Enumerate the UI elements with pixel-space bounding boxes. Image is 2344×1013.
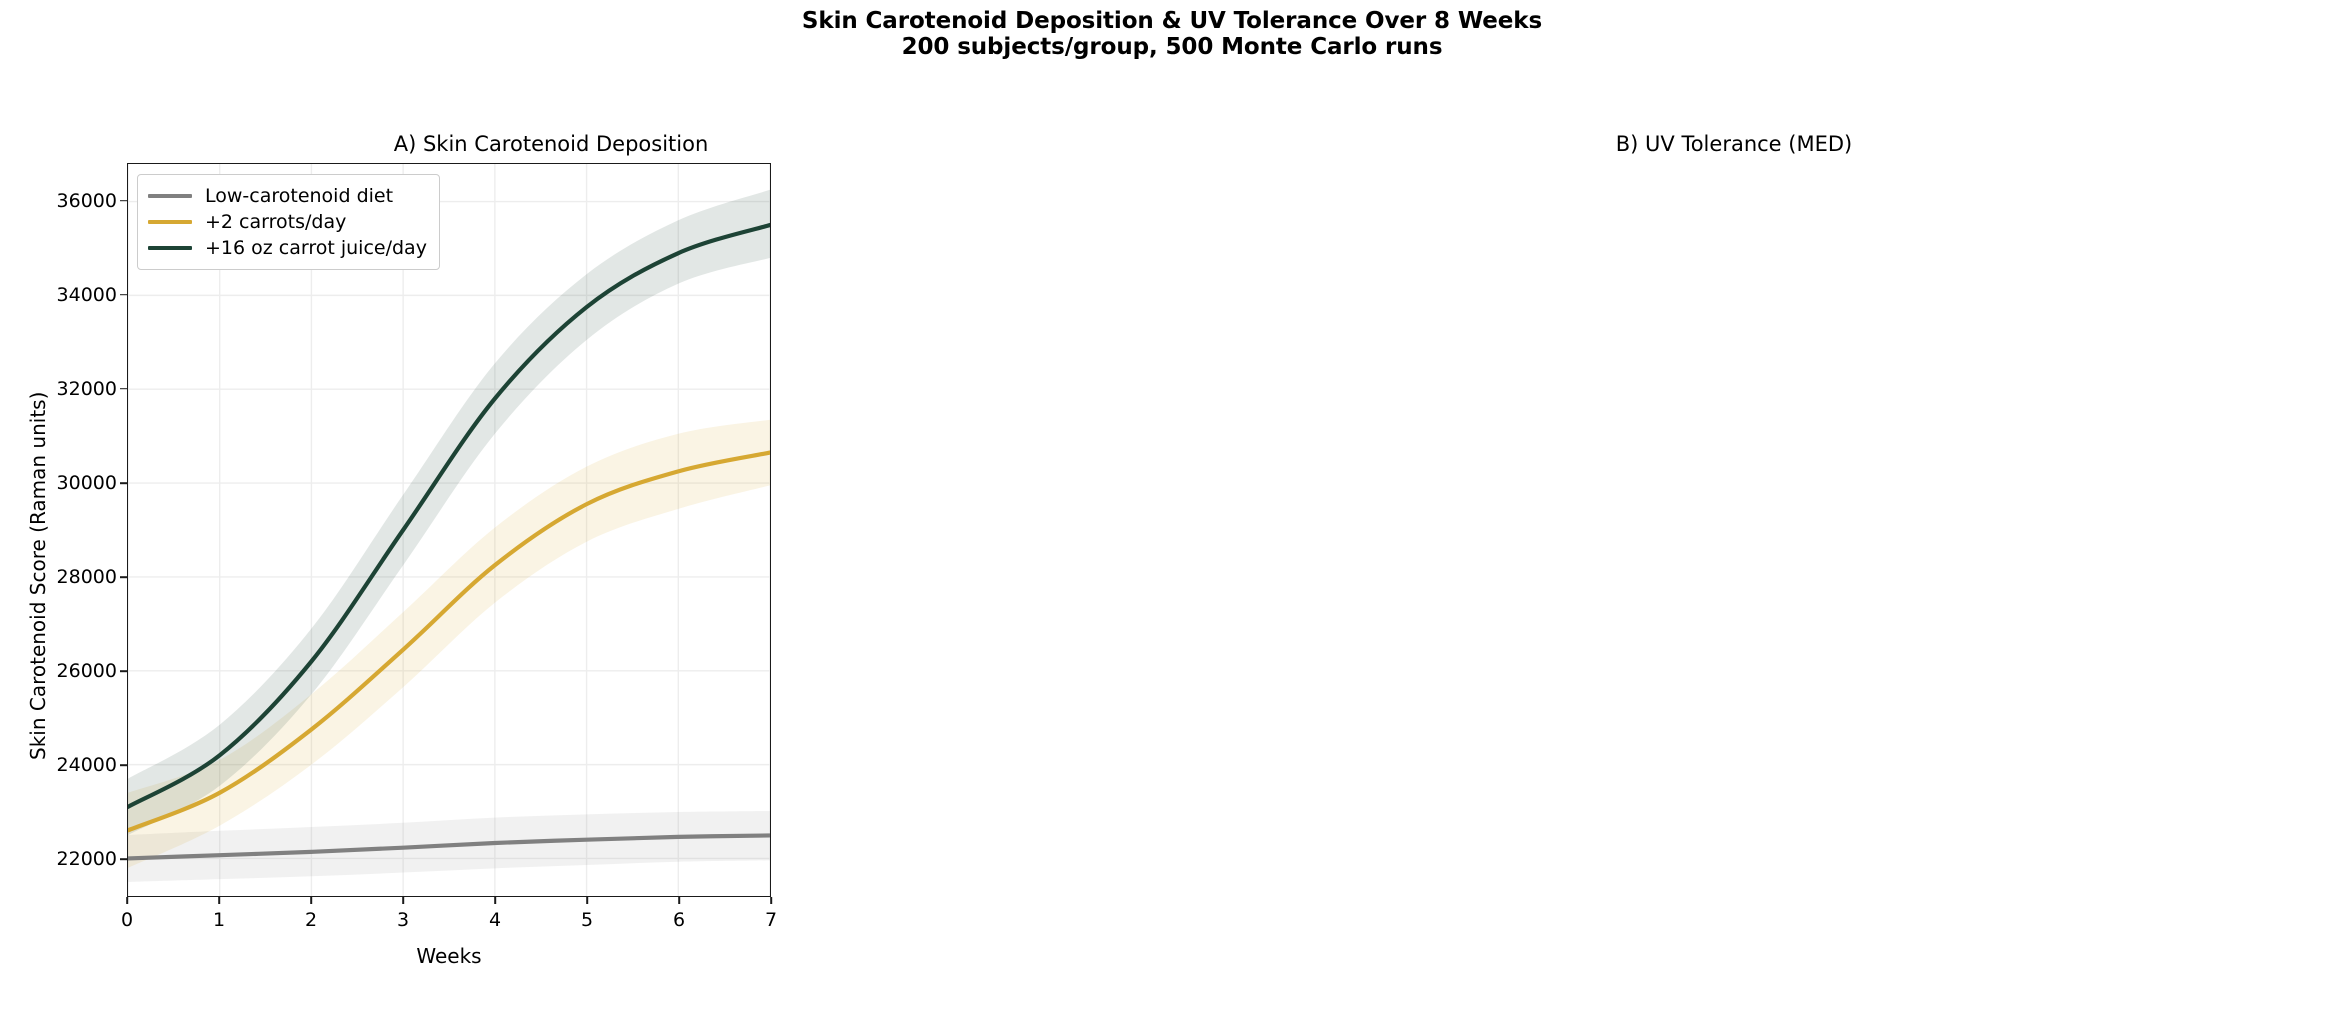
legend-item-a-1[interactable]: +2 carrots/day: [148, 209, 427, 235]
x-tick-label: 5: [581, 909, 593, 931]
legend-item-a-2[interactable]: +16 oz carrot juice/day: [148, 235, 427, 261]
x-tick-mark: [218, 897, 220, 904]
confidence-band: [128, 190, 770, 835]
legend-swatch-icon: [148, 246, 192, 251]
x-tick-mark: [770, 897, 772, 904]
y-tick-label: 32000: [41, 378, 117, 400]
legend-swatch-icon: [148, 220, 192, 225]
y-tick-label: 30000: [41, 472, 117, 494]
y-tick-label: 22000: [41, 848, 117, 870]
y-tick-label: 24000: [41, 754, 117, 776]
legend-item-label: Low-carotenoid diet: [205, 185, 393, 207]
x-tick-mark: [494, 897, 496, 904]
legend-a: Low-carotenoid diet+2 carrots/day+16 oz …: [137, 174, 440, 270]
subplot-b-title: B) UV Tolerance (MED): [1148, 132, 2320, 156]
x-tick-label: 3: [397, 909, 409, 931]
y-tick-mark: [120, 859, 127, 861]
y-tick-mark: [120, 670, 127, 672]
y-tick-label: 36000: [41, 190, 117, 212]
x-tick-mark: [126, 897, 128, 904]
legend-item-label: +16 oz carrot juice/day: [205, 237, 427, 259]
y-tick-label: 26000: [41, 660, 117, 682]
y-tick-label: 34000: [41, 284, 117, 306]
series-line: [128, 225, 770, 807]
subplot-a-title: A) Skin Carotenoid Deposition: [0, 132, 1137, 156]
x-tick-label: 0: [121, 909, 133, 931]
y-tick-label: 28000: [41, 566, 117, 588]
x-tick-label: 4: [489, 909, 501, 931]
legend-swatch-icon: [148, 194, 192, 199]
legend-item-label: +2 carrots/day: [205, 211, 346, 233]
x-axis-label-a: Weeks: [127, 944, 771, 968]
x-tick-label: 7: [765, 909, 777, 931]
y-tick-mark: [120, 576, 127, 578]
x-tick-mark: [402, 897, 404, 904]
x-tick-label: 2: [305, 909, 317, 931]
x-tick-mark: [586, 897, 588, 904]
x-tick-label: 6: [673, 909, 685, 931]
y-tick-mark: [120, 294, 127, 296]
y-tick-mark: [120, 200, 127, 202]
legend-item-a-0[interactable]: Low-carotenoid diet: [148, 183, 427, 209]
y-tick-mark: [120, 764, 127, 766]
panel-skin-carotenoid-deposition: A) Skin Carotenoid Deposition Skin Carot…: [0, 0, 1172, 1013]
plot-canvas-a: [128, 164, 770, 896]
y-tick-mark: [120, 388, 127, 390]
plot-area-a: [127, 163, 771, 897]
panel-uv-tolerance: B) UV Tolerance (MED) Minimal Erythema D…: [1172, 0, 2344, 1013]
x-tick-label: 1: [213, 909, 225, 931]
x-tick-mark: [678, 897, 680, 904]
y-tick-mark: [120, 482, 127, 484]
x-tick-mark: [310, 897, 312, 904]
